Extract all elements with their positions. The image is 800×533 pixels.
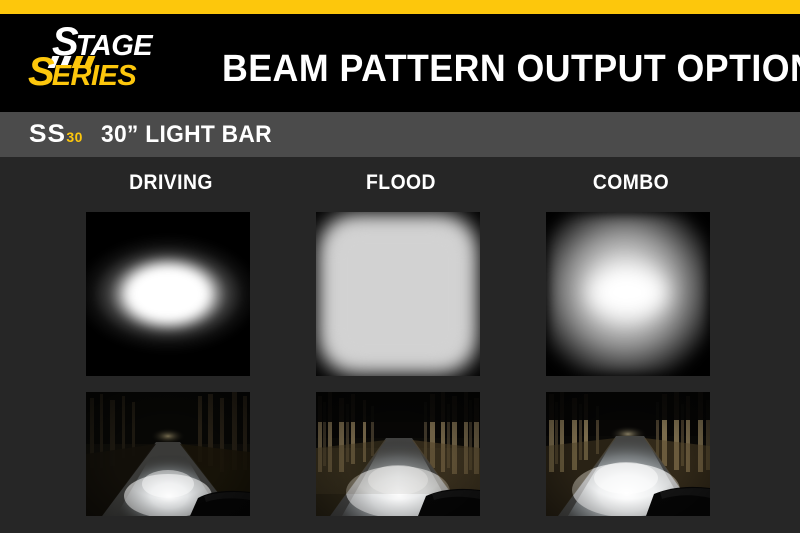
combo-beam-pattern xyxy=(546,212,710,376)
logo-series-capital: S xyxy=(28,52,54,92)
beam-pattern-infographic: S TAGE S ERIES BEAM PATTERN OUTPUT OPTIO… xyxy=(0,0,800,533)
column-label-combo: COMBO xyxy=(525,171,737,195)
driving-road-photo-art xyxy=(86,392,250,516)
logo-word-series: S ERIES xyxy=(28,52,136,92)
logo-series-rest: ERIES xyxy=(52,62,137,91)
ss30-badge: SS 30 xyxy=(29,122,83,147)
ss-badge-letters: SS xyxy=(29,122,66,147)
beam-comparison-grid: DRIVING xyxy=(0,157,800,533)
combo-road-photo xyxy=(546,392,710,516)
page-title: BEAM PATTERN OUTPUT OPTIONS xyxy=(222,50,800,88)
column-label-driving: DRIVING xyxy=(65,171,277,195)
combo-beam-field xyxy=(546,212,710,376)
driving-road-photo xyxy=(86,392,250,516)
driving-beam-halo xyxy=(86,212,250,376)
column-flood: FLOOD xyxy=(286,157,516,533)
stage-series-logo: S TAGE S ERIES xyxy=(22,22,182,96)
ss-badge-number: 30 xyxy=(66,130,83,144)
flood-road-photo xyxy=(316,392,480,516)
flood-beam-pattern xyxy=(316,212,480,376)
product-name-label: 30” LIGHT BAR xyxy=(101,123,272,147)
flood-beam-field xyxy=(316,212,480,376)
product-subtitle-bar: SS 30 30” LIGHT BAR xyxy=(0,112,800,157)
top-accent-strip xyxy=(0,0,800,14)
column-driving: DRIVING xyxy=(56,157,286,533)
driving-beam-pattern xyxy=(86,212,250,376)
column-label-flood: FLOOD xyxy=(295,171,507,195)
flood-road-photo-art xyxy=(316,392,480,516)
column-combo: COMBO xyxy=(516,157,746,533)
combo-road-photo-art xyxy=(546,392,710,516)
